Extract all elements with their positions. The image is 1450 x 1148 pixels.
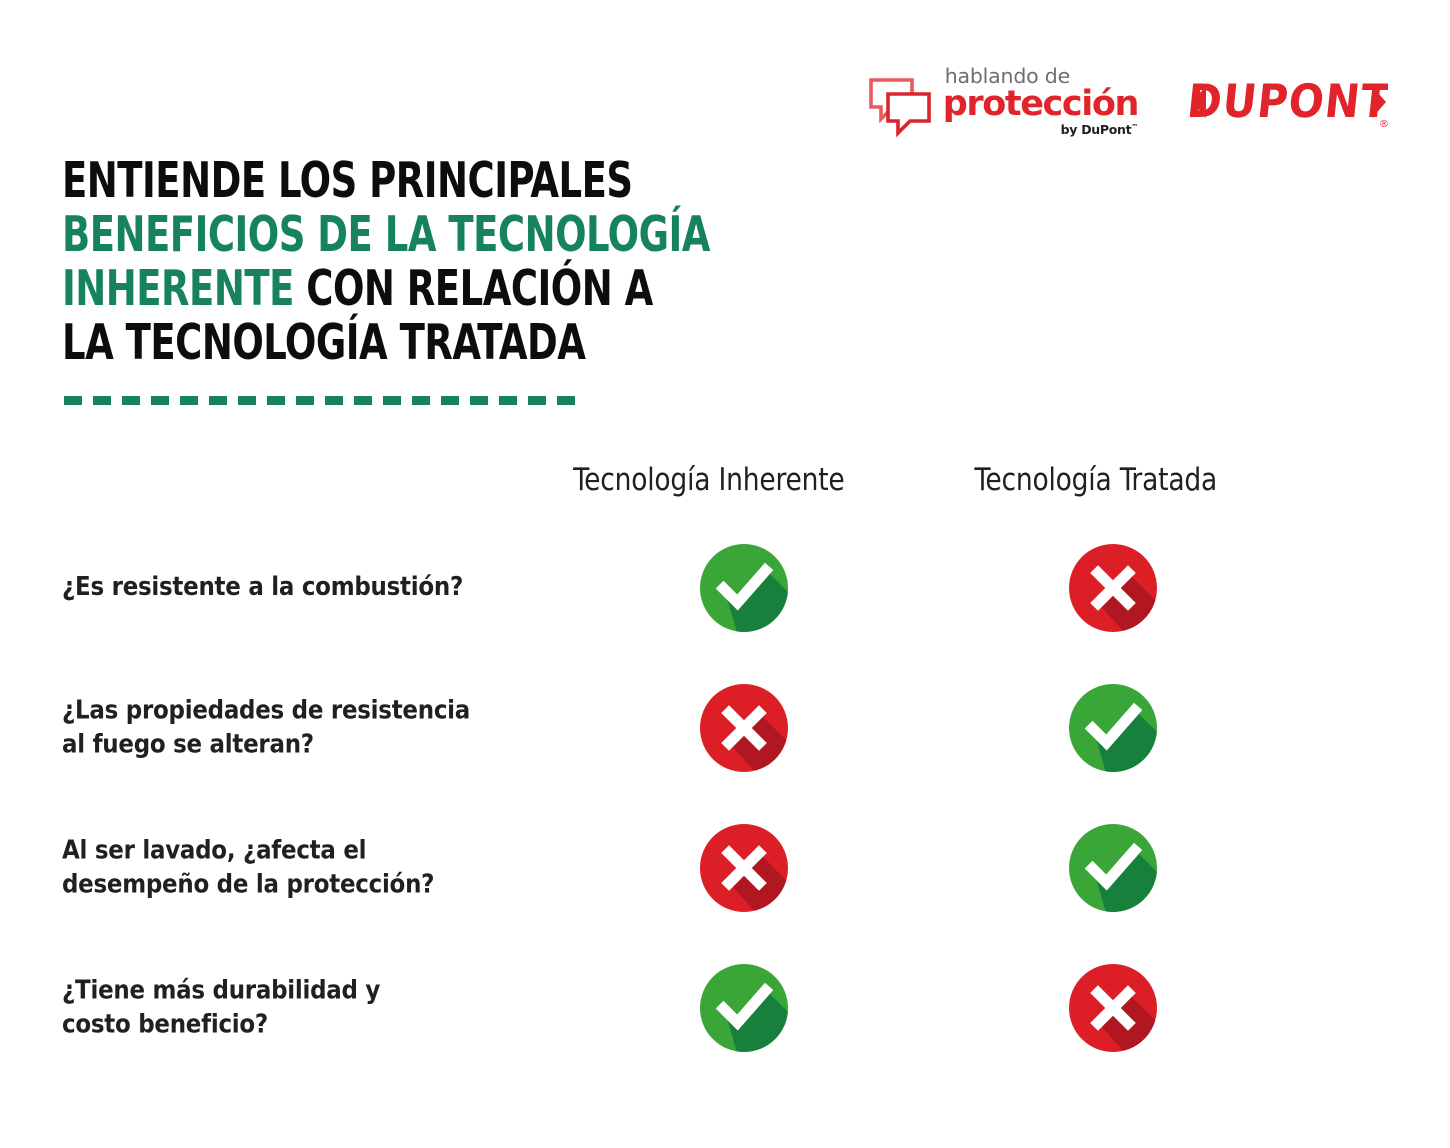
- cell-inherente-row-3: [696, 820, 792, 916]
- table-row: ¿Las propiedades de resistencia al fuego…: [0, 658, 1450, 798]
- question-label: ¿Tiene más durabilidad y costo beneficio…: [62, 974, 582, 1041]
- hablando-wordmark: hablando de protección by DuPont™: [943, 66, 1138, 139]
- cross-circle-icon: [1065, 960, 1161, 1056]
- speech-bubbles-icon: [868, 77, 934, 139]
- cell-inherente-row-1: [696, 540, 792, 636]
- check-circle-icon: [696, 540, 792, 636]
- dashed-divider: [64, 396, 576, 405]
- question-label: ¿Las propiedades de resistencia al fuego…: [62, 694, 582, 761]
- headline-line-2: BENEFICIOS DE LA TECNOLOGÍA: [62, 208, 801, 262]
- infographic-page: hablando de protección by DuPont™ DUPONT…: [0, 0, 1450, 1148]
- table-row: ¿Es resistente a la combustión?: [0, 518, 1450, 658]
- comparison-table: Tecnología Inherente Tecnología Tratada …: [0, 462, 1450, 1078]
- cross-circle-icon: [696, 680, 792, 776]
- svg-text:DUPONT: DUPONT: [1190, 74, 1388, 128]
- question-line: ¿Las propiedades de resistencia: [62, 695, 470, 725]
- question-line: Al ser lavado, ¿afecta el: [62, 835, 366, 865]
- hablando-line2: protección: [943, 88, 1138, 122]
- question-line: costo beneficio?: [62, 1009, 268, 1039]
- dupont-logo: DUPONT ®: [1190, 70, 1388, 134]
- cell-tratada-row-1: [1065, 540, 1161, 636]
- cell-tratada-row-4: [1065, 960, 1161, 1056]
- cross-circle-icon: [696, 820, 792, 916]
- hablando-byline: by DuPont™: [1061, 124, 1138, 137]
- question-line: ¿Es resistente a la combustión?: [62, 572, 463, 602]
- column-header-tecnologia-inherente: Tecnología Inherente: [573, 462, 844, 498]
- headline-accent-inherente: INHERENTE: [62, 260, 294, 317]
- headline-line-3-rest: CON RELACIÓN A: [294, 260, 653, 317]
- check-circle-icon: [1065, 820, 1161, 916]
- question-line: desempeño de la protección?: [62, 869, 434, 899]
- headline-line-1: ENTIENDE LOS PRINCIPALES: [62, 154, 801, 208]
- headline-line-3: INHERENTE CON RELACIÓN A: [62, 262, 801, 316]
- table-column-headers: Tecnología Inherente Tecnología Tratada: [0, 462, 1450, 518]
- table-row: ¿Tiene más durabilidad y costo beneficio…: [0, 938, 1450, 1078]
- cross-circle-icon: [1065, 540, 1161, 636]
- question-line: al fuego se alteran?: [62, 729, 314, 759]
- question-label: ¿Es resistente a la combustión?: [62, 571, 582, 605]
- question-line: ¿Tiene más durabilidad y: [62, 975, 380, 1005]
- cell-inherente-row-2: [696, 680, 792, 776]
- check-circle-icon: [1065, 680, 1161, 776]
- hablando-de-proteccion-logo: hablando de protección by DuPont™: [868, 66, 1138, 139]
- cell-tratada-row-3: [1065, 820, 1161, 916]
- svg-text:®: ®: [1379, 119, 1388, 130]
- table-row: Al ser lavado, ¿afecta el desempeño de l…: [0, 798, 1450, 938]
- cell-inherente-row-4: [696, 960, 792, 1056]
- check-circle-icon: [696, 960, 792, 1056]
- page-title: ENTIENDE LOS PRINCIPALES BENEFICIOS DE L…: [62, 154, 801, 370]
- cell-tratada-row-2: [1065, 680, 1161, 776]
- question-label: Al ser lavado, ¿afecta el desempeño de l…: [62, 834, 582, 901]
- dupont-wordmark: DUPONT ®: [1190, 70, 1388, 134]
- headline-line-4: LA TECNOLOGÍA TRATADA: [62, 316, 801, 370]
- logo-bar: hablando de protección by DuPont™ DUPONT…: [868, 66, 1388, 139]
- column-header-tecnologia-tratada: Tecnología Tratada: [974, 462, 1217, 498]
